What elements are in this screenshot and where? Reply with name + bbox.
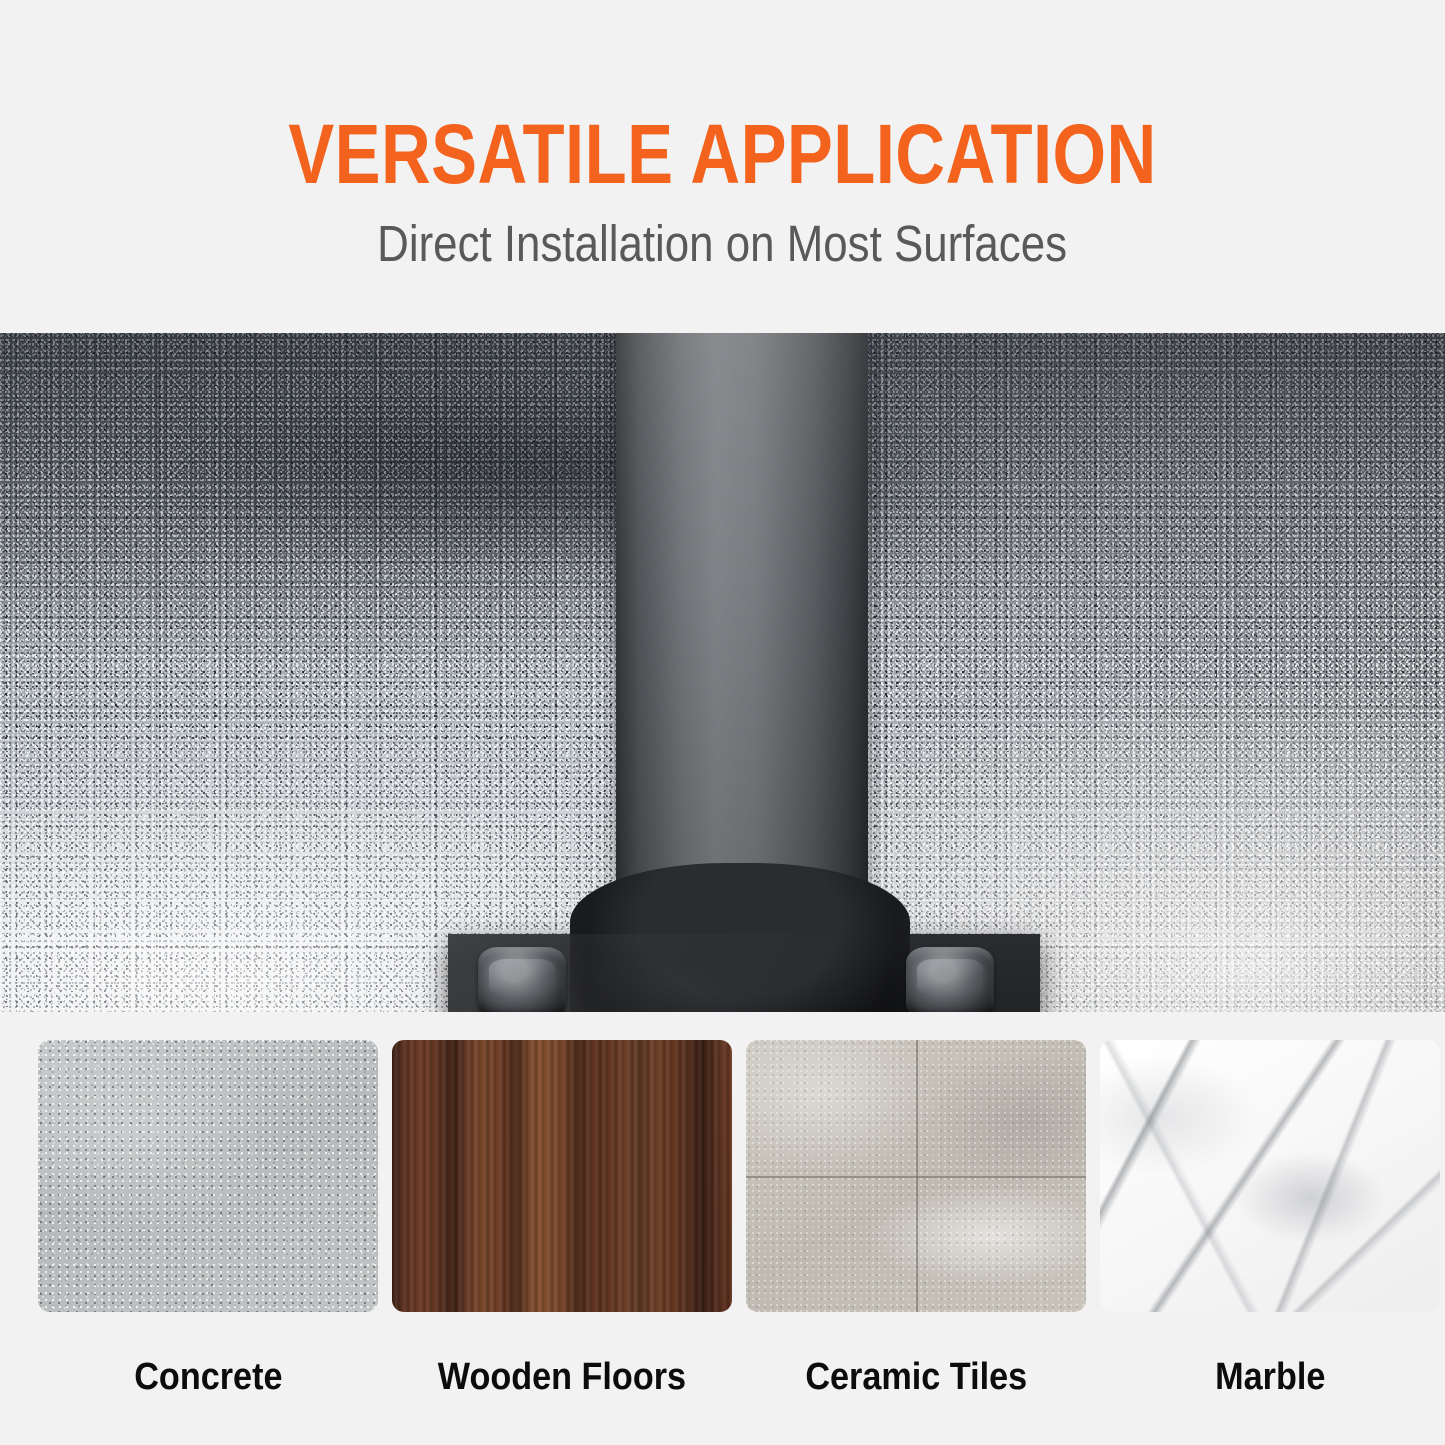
surface-label-concrete: Concrete [134, 1358, 282, 1396]
surface-swatch-ceramic-tiles: Ceramic Tiles [746, 1040, 1086, 1396]
tile-grout-horizontal [746, 1176, 1086, 1178]
surface-label-marble: Marble [1215, 1358, 1325, 1396]
ground-dark-patch [116, 374, 1012, 578]
banner-header: VERSATILE APPLICATION Direct Installatio… [0, 0, 1445, 333]
page-subtitle: Direct Installation on Most Surfaces [378, 196, 1068, 269]
surface-label-ceramic-tiles: Ceramic Tiles [805, 1358, 1027, 1396]
surface-swatch-marble: Marble [1100, 1040, 1440, 1396]
surface-swatch-concrete: Concrete [38, 1040, 378, 1396]
concrete-texture-image [38, 1040, 378, 1312]
anchor-bolt-top-left [478, 947, 566, 1012]
hero-photo [0, 333, 1445, 1012]
surface-swatch-row: Concrete Wooden Floors Ceramic Tiles Mar… [38, 1040, 1407, 1396]
wood-texture-image [392, 1040, 732, 1312]
surface-swatch-wooden-floors: Wooden Floors [392, 1040, 732, 1396]
marble-texture-image [1100, 1040, 1440, 1312]
ceramic-tile-texture-image [746, 1040, 1086, 1312]
page-title: VERSATILE APPLICATION [288, 0, 1156, 196]
surface-swatch-strip: Concrete Wooden Floors Ceramic Tiles Mar… [0, 1012, 1445, 1445]
surface-label-wooden-floors: Wooden Floors [438, 1358, 686, 1396]
product-feature-card: VERSATILE APPLICATION Direct Installatio… [0, 0, 1445, 1445]
anchor-bolt-top-right [906, 947, 994, 1012]
